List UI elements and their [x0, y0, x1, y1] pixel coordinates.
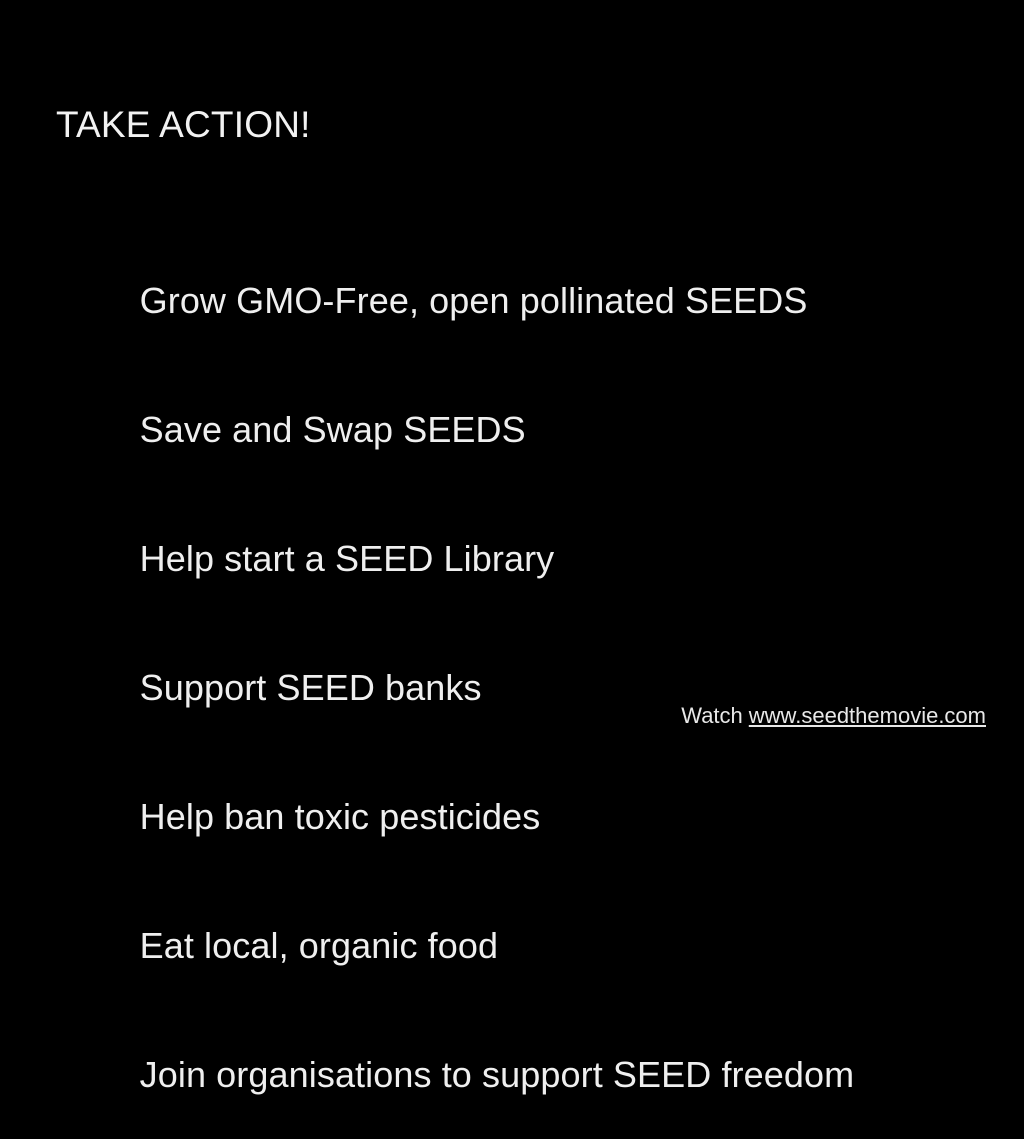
list-item-label: Save and Swap SEEDS	[140, 409, 526, 450]
list-item: Save and Swap SEEDS	[79, 365, 854, 494]
list-item-label: Help start a SEED Library	[140, 538, 555, 579]
page-title: TAKE ACTION!	[56, 103, 311, 146]
list-item-label: Join organisations to support SEED freed…	[140, 1054, 855, 1095]
list-item: Support SEED banks	[79, 623, 854, 752]
list-item: Help ban toxic pesticides	[79, 752, 854, 881]
presentation-slide: TAKE ACTION! Grow GMO-Free, open pollina…	[0, 0, 1024, 768]
list-item: Grow GMO-Free, open pollinated SEEDS	[79, 236, 854, 365]
list-item: Help start a SEED Library	[79, 494, 854, 623]
slide-footer: Watchwww.seedthemovie.com	[681, 703, 986, 729]
list-item: Eat local, organic food	[79, 881, 854, 1010]
action-item-list: Grow GMO-Free, open pollinated SEEDS Sav…	[79, 236, 854, 1139]
list-item-label: Support SEED banks	[140, 667, 482, 708]
list-item: Join organisations to support SEED freed…	[79, 1010, 854, 1139]
list-item-label: Help ban toxic pesticides	[140, 796, 541, 837]
footer-website-link[interactable]: www.seedthemovie.com	[749, 703, 986, 728]
footer-prefix-label: Watch	[681, 703, 743, 728]
list-item-label: Eat local, organic food	[140, 925, 499, 966]
list-item-label: Grow GMO-Free, open pollinated SEEDS	[140, 280, 808, 321]
